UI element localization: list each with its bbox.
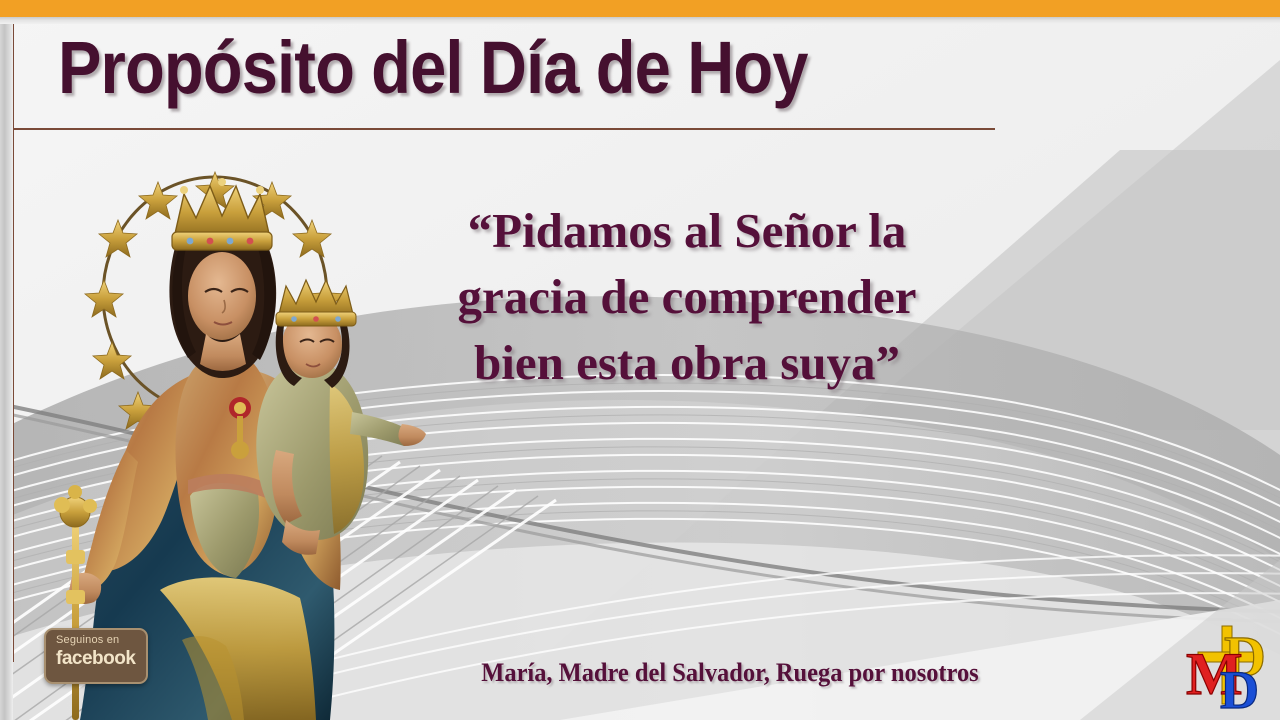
slide-caption: María, Madre del Salvador, Ruega por nos… bbox=[401, 657, 1059, 689]
top-accent-bar bbox=[0, 0, 1280, 17]
page-title: Propósito del Día de Hoy bbox=[58, 28, 808, 108]
title-underline-rule bbox=[13, 128, 995, 130]
facebook-badge-label: facebook bbox=[56, 648, 146, 670]
jesus-right-hand bbox=[398, 424, 426, 446]
facebook-follow-badge[interactable]: Seguinos en facebook bbox=[44, 628, 148, 684]
quote-text: “Pidamos al Señor la gracia de comprende… bbox=[398, 198, 976, 396]
facebook-badge-subtitle: Seguinos en bbox=[56, 634, 146, 647]
left-edge-strip bbox=[0, 17, 13, 720]
top-bar-shadow bbox=[0, 17, 1280, 24]
jesus-crown bbox=[276, 280, 356, 326]
mary-head bbox=[169, 238, 276, 378]
presentation-slide: Propósito del Día de Hoy “Pidamos al Señ… bbox=[0, 0, 1280, 720]
vertical-divider-line bbox=[13, 17, 14, 662]
mdb-monogram-logo: D M D bbox=[1178, 618, 1274, 714]
logo-letter-b-blue: D bbox=[1220, 660, 1259, 714]
mdb-logo-graphic: D M D bbox=[1178, 618, 1274, 714]
quote-line-1: “Pidamos al Señor la bbox=[398, 198, 976, 264]
quote-line-2: gracia de comprender bbox=[398, 264, 976, 330]
quote-line-3: bien esta obra suya” bbox=[398, 330, 976, 396]
